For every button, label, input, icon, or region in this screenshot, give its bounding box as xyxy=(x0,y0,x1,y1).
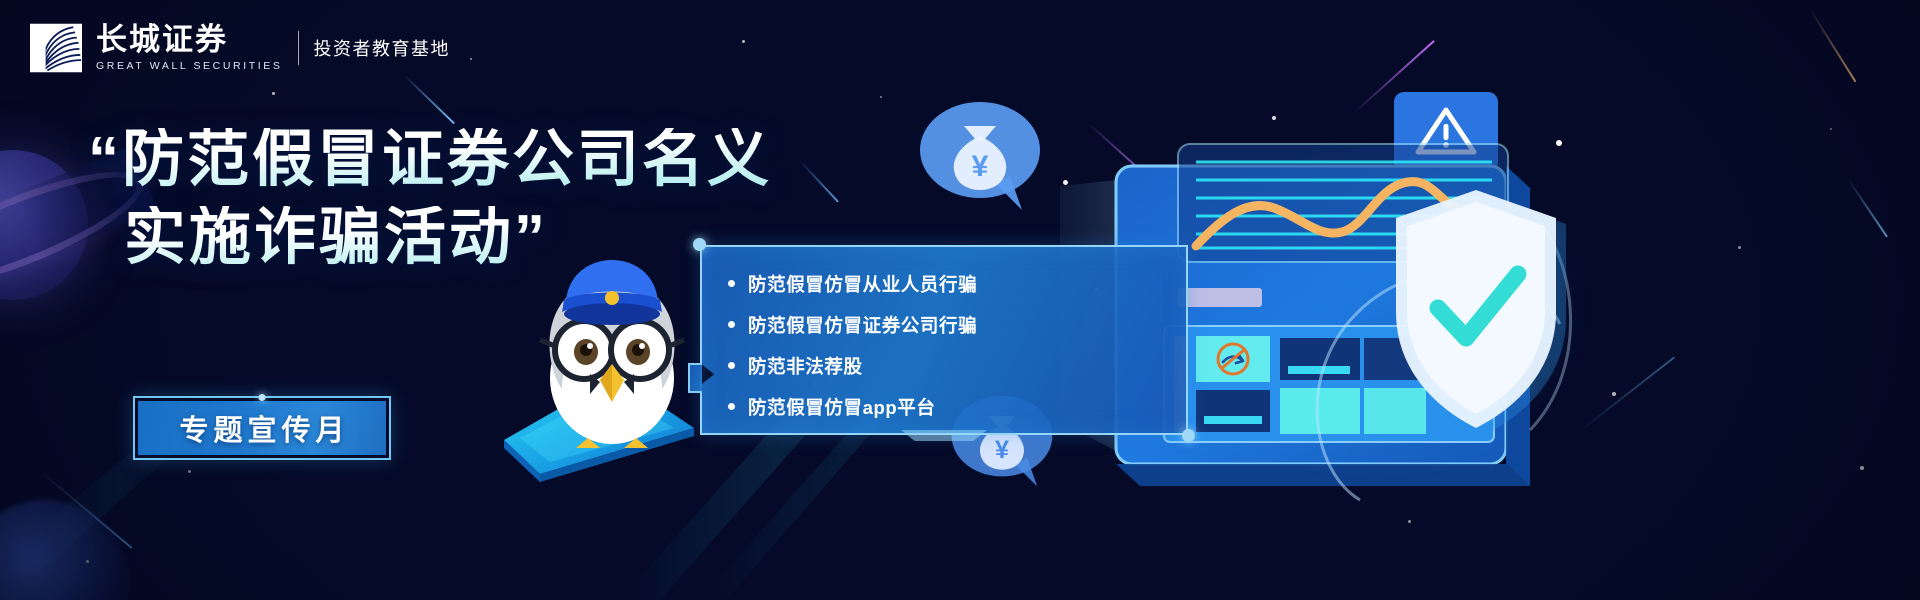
svg-text:¥: ¥ xyxy=(995,436,1009,464)
list-item: 防范非法荐股 xyxy=(728,345,1170,386)
great-wall-logo-icon xyxy=(30,22,82,74)
panel-bottom-tab-icon xyxy=(901,430,987,441)
headline-line-2: 实施诈骗活动” xyxy=(88,206,772,270)
bullet-label: 防范假冒仿冒app平台 xyxy=(748,394,936,420)
logo-divider xyxy=(298,31,299,65)
bullet-dot-icon xyxy=(728,321,735,328)
headline-line-1: “防范假冒证券公司名义 xyxy=(88,128,772,192)
bullet-label: 防范假冒仿冒证券公司行骗 xyxy=(748,312,977,338)
brand-subtitle: 投资者教育基地 xyxy=(313,35,450,61)
list-item: 防范假冒仿冒app平台 xyxy=(728,386,1170,427)
cta-glow-dot-icon xyxy=(259,394,266,401)
bullet-dot-icon xyxy=(728,280,735,287)
key-points-panel: 防范假冒仿冒从业人员行骗 防范假冒仿冒证券公司行骗 防范非法荐股 防范假冒仿冒a… xyxy=(700,245,1188,435)
svg-text:¥: ¥ xyxy=(972,150,989,183)
brand-logo[interactable]: 长城证券 GREAT WALL SECURITIES 投资者教育基地 xyxy=(30,22,450,74)
bullet-dot-icon xyxy=(728,403,735,410)
money-bag-speech-bubble-icon: ¥ xyxy=(918,98,1042,216)
list-item: 防范假冒仿冒从业人员行骗 xyxy=(728,263,1170,304)
bullet-dot-icon xyxy=(728,362,735,369)
cta-inner: 专题宣传月 xyxy=(138,401,386,455)
cta-label: 专题宣传月 xyxy=(174,407,349,449)
banner-stage: 长城证券 GREAT WALL SECURITIES 投资者教育基地 “防范假冒… xyxy=(0,0,1920,600)
bullet-label: 防范非法荐股 xyxy=(748,353,863,379)
panel-corner-dot-icon xyxy=(1182,429,1195,442)
bullet-label: 防范假冒仿冒从业人员行骗 xyxy=(748,271,977,297)
panel-pointer-notch-icon xyxy=(688,363,702,393)
campaign-cta-button[interactable]: 专题宣传月 xyxy=(133,396,391,460)
bullet-list: 防范假冒仿冒从业人员行骗 防范假冒仿冒证券公司行骗 防范非法荐股 防范假冒仿冒a… xyxy=(728,263,1170,427)
brand-name-en: GREAT WALL SECURITIES xyxy=(96,61,282,72)
brand-name-cn: 长城证券 xyxy=(96,24,282,55)
list-item: 防范假冒仿冒证券公司行骗 xyxy=(728,304,1170,345)
police-owl-mascot-icon xyxy=(516,246,708,456)
headline: “防范假冒证券公司名义 实施诈骗活动” xyxy=(88,128,772,271)
